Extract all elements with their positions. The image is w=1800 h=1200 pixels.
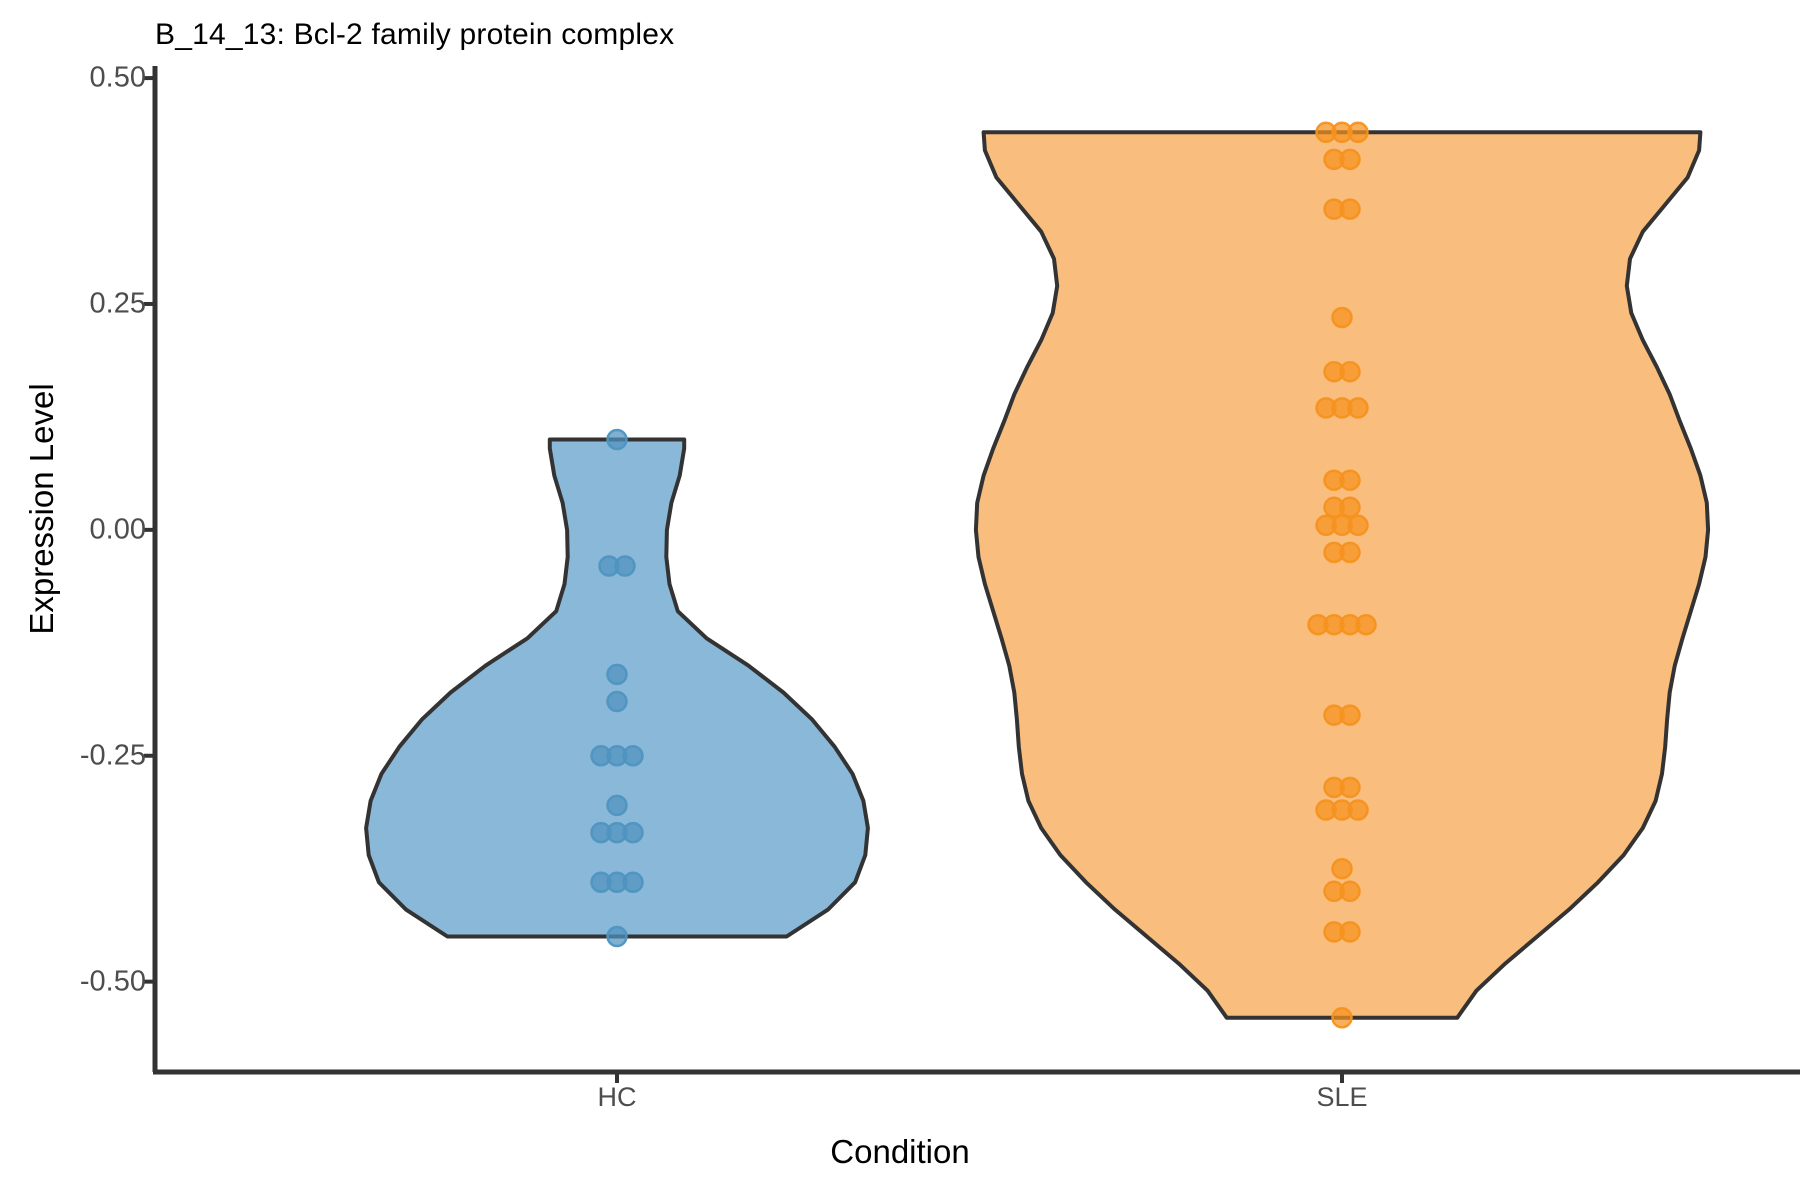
data-point-hc <box>608 692 627 711</box>
violin-hc <box>366 440 868 937</box>
data-point-sle <box>1333 1008 1352 1027</box>
data-point-sle <box>1349 398 1368 417</box>
data-point-sle <box>1341 706 1360 725</box>
data-point-sle <box>1341 471 1360 490</box>
data-point-sle <box>1333 859 1352 878</box>
y-axis-tick-label: 0.00 <box>0 513 146 546</box>
y-axis-tick-label: 0.25 <box>0 287 146 320</box>
data-point-sle <box>1341 882 1360 901</box>
x-axis-tick-label-sle: SLE <box>1316 1082 1367 1113</box>
data-point-hc <box>624 746 643 765</box>
data-point-hc <box>608 430 627 449</box>
data-point-hc <box>624 823 643 842</box>
data-point-sle <box>1341 778 1360 797</box>
data-point-hc <box>608 927 627 946</box>
data-point-hc <box>624 873 643 892</box>
data-point-hc <box>608 796 627 815</box>
plot-canvas <box>0 0 1800 1200</box>
x-axis-tick-label-hc: HC <box>598 1082 637 1113</box>
data-point-sle <box>1333 308 1352 327</box>
data-point-sle <box>1341 362 1360 381</box>
y-axis-tick-label: -0.50 <box>0 965 146 998</box>
data-point-sle <box>1357 615 1376 634</box>
data-point-sle <box>1341 150 1360 169</box>
data-point-sle <box>1341 200 1360 219</box>
data-point-sle <box>1349 516 1368 535</box>
data-point-sle <box>1349 801 1368 820</box>
data-point-sle <box>1341 543 1360 562</box>
violin-shapes-group <box>366 132 1708 1018</box>
data-point-sle <box>1341 498 1360 517</box>
data-point-sle <box>1341 922 1360 941</box>
data-point-sle <box>1349 123 1368 142</box>
y-axis-tick-label: 0.50 <box>0 62 146 95</box>
violin-plot-figure: B_14_13: Bcl-2 family protein complex Ex… <box>0 0 1800 1200</box>
data-point-hc <box>608 665 627 684</box>
y-axis-tick-label: -0.25 <box>0 739 146 772</box>
data-point-hc <box>616 557 635 576</box>
